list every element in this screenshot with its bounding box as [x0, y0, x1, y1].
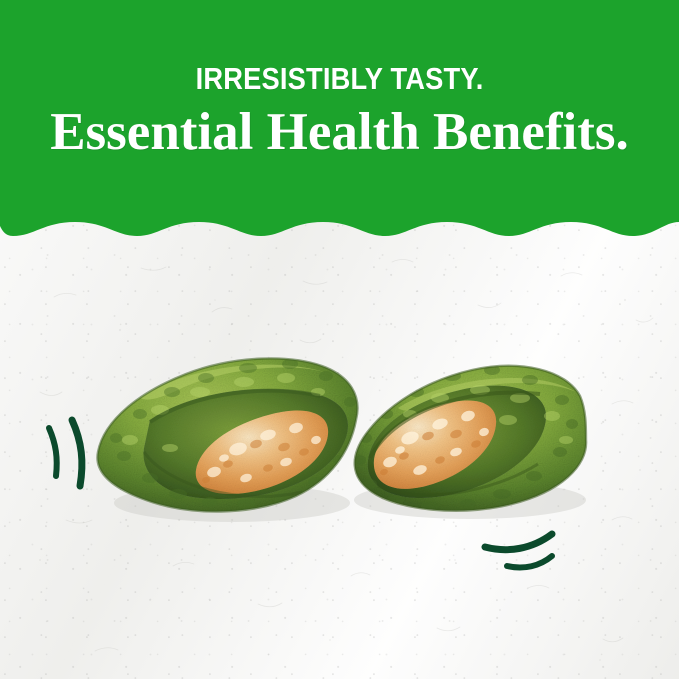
- right-treat: [354, 365, 586, 511]
- product-photo: [0, 0, 679, 679]
- left-treat: [97, 358, 357, 511]
- product-banner: IRRESISTIBLY TASTY. Essential Health Ben…: [0, 0, 679, 679]
